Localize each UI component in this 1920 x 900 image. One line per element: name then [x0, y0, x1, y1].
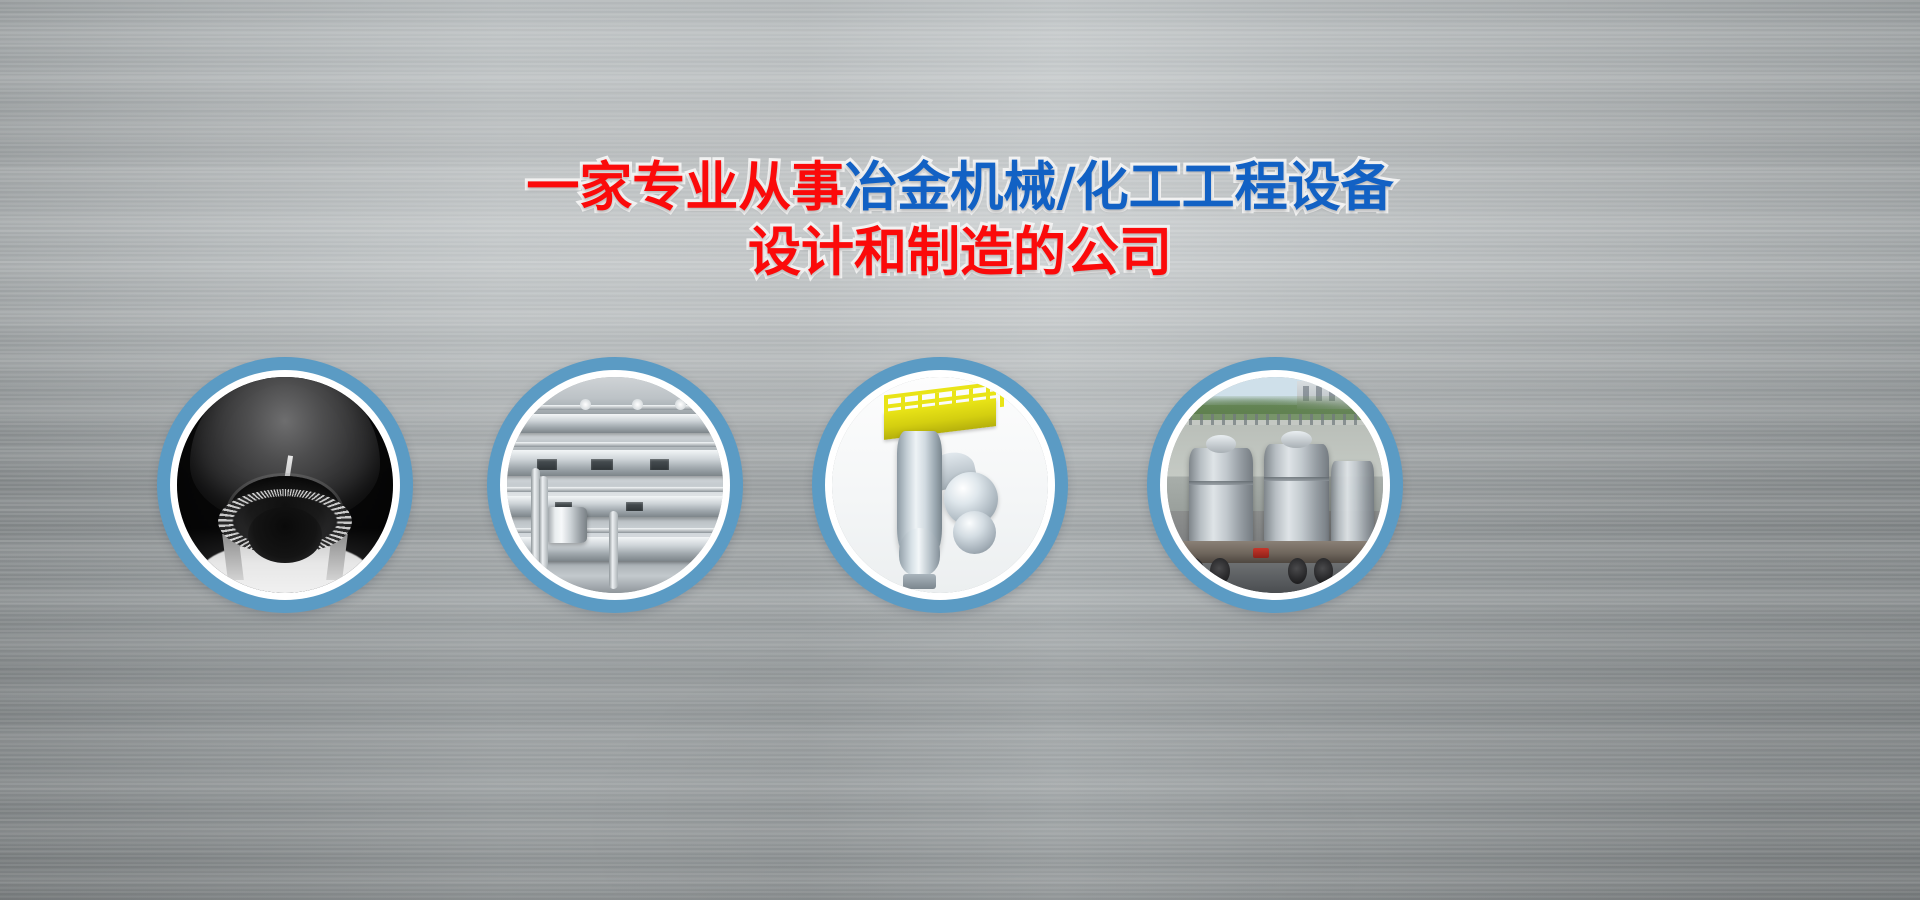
machine-port-5	[626, 502, 643, 511]
medallion-2[interactable]	[487, 357, 743, 613]
trailer-red-marker	[1253, 548, 1268, 559]
tank-2-cap	[1281, 431, 1311, 448]
background-fence	[1167, 414, 1383, 425]
trailer-bed	[1171, 541, 1378, 563]
tank-3	[1331, 461, 1374, 543]
headline-block: 一家专业从事冶金机械/化工工程设备 设计和制造的公司	[0, 160, 1920, 281]
tank-2-strap	[1264, 477, 1329, 481]
machine-port-1	[537, 459, 556, 470]
tank-1-cap	[1206, 435, 1236, 452]
machinery-line-photo	[507, 377, 723, 593]
headline-line-2: 设计和制造的公司	[0, 225, 1920, 281]
hero-banner: 一家专业从事冶金机械/化工工程设备 设计和制造的公司	[0, 0, 1920, 900]
machine-pipe-1	[531, 468, 540, 585]
medallion-4[interactable]	[1147, 357, 1403, 613]
tanks-on-trailer-photo	[1167, 377, 1383, 593]
medallion-1-photo	[177, 377, 393, 593]
headline-line-1: 一家专业从事冶金机械/化工工程设备	[0, 160, 1920, 216]
medallion-4-photo	[1167, 377, 1383, 593]
tank-1-strap	[1189, 481, 1254, 485]
medallion-3-photo	[832, 377, 1048, 593]
machine-port-3	[650, 459, 669, 470]
headline-line2-red-text: 设计和制造的公司	[748, 222, 1172, 283]
tank-1	[1189, 448, 1254, 543]
furnace-cone-photo	[177, 377, 393, 593]
vessel-lower-bulb	[899, 528, 940, 576]
machine-pipe-3	[609, 511, 618, 589]
trailer-wheel-1	[1184, 558, 1203, 584]
headline-line1-red-text: 一家专业从事	[526, 157, 844, 218]
machine-lamp-1	[580, 399, 591, 410]
machine-drum-shape	[546, 507, 587, 544]
machine-rail-2	[507, 442, 723, 447]
machine-port-2	[591, 459, 613, 470]
medallion-3[interactable]	[812, 357, 1068, 613]
tank-2	[1264, 444, 1329, 543]
furnace-core-shape	[248, 507, 321, 563]
machine-beam-1	[507, 414, 723, 433]
cad-vessel-photo	[832, 377, 1048, 593]
trailer-wheel-2	[1210, 558, 1229, 584]
machine-lamp-2	[632, 399, 643, 410]
machine-pipe-2	[539, 476, 548, 584]
vessel-sphere-2	[953, 511, 996, 554]
vessel-foot-shape	[903, 574, 935, 589]
machine-rail-1	[507, 405, 723, 410]
headline-line1-blue-text: 冶金机械/化工工程设备	[844, 157, 1393, 218]
medallion-2-photo	[507, 377, 723, 593]
medallion-1[interactable]	[157, 357, 413, 613]
